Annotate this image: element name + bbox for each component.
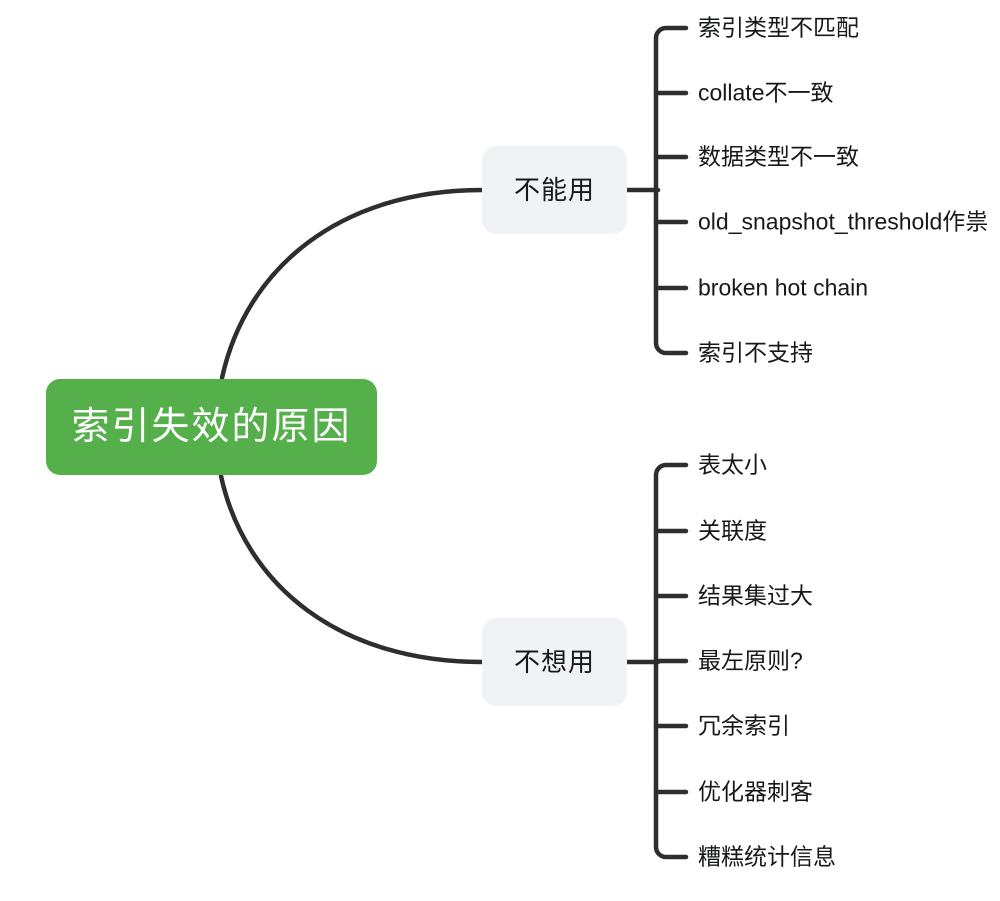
leaf-node-upper-5[interactable]: broken hot chain bbox=[698, 277, 868, 300]
leaf-node-lower-1[interactable]: 表太小 bbox=[698, 454, 767, 477]
branch-node-upper-label: 不能用 bbox=[514, 177, 595, 203]
leaf-node-upper-3[interactable]: 数据类型不一致 bbox=[698, 146, 859, 169]
bracket-upper bbox=[656, 28, 686, 353]
connector-root-to-lower-branch bbox=[221, 476, 482, 662]
leaf-node-upper-2[interactable]: collate不一致 bbox=[698, 82, 833, 105]
branch-node-upper[interactable]: 不能用 bbox=[482, 146, 627, 234]
branch-node-lower[interactable]: 不想用 bbox=[482, 618, 627, 706]
mindmap-canvas: 索引失效的原因 不能用 不想用 索引类型不匹配 collate不一致 数据类型不… bbox=[0, 0, 1000, 901]
leaf-node-lower-6[interactable]: 优化器刺客 bbox=[698, 781, 813, 804]
leaf-node-upper-1[interactable]: 索引类型不匹配 bbox=[698, 17, 859, 40]
leaf-node-upper-6[interactable]: 索引不支持 bbox=[698, 342, 813, 365]
branch-node-lower-label: 不想用 bbox=[514, 649, 595, 675]
leaf-node-lower-3[interactable]: 结果集过大 bbox=[698, 585, 813, 608]
connector-root-to-upper-branch bbox=[222, 190, 482, 378]
root-node[interactable]: 索引失效的原因 bbox=[46, 379, 377, 475]
leaf-node-lower-5[interactable]: 冗余索引 bbox=[698, 715, 790, 738]
leaf-node-lower-2[interactable]: 关联度 bbox=[698, 520, 767, 543]
leaf-node-upper-4[interactable]: old_snapshot_threshold作祟 bbox=[698, 211, 988, 234]
leaf-node-lower-7[interactable]: 糟糕统计信息 bbox=[698, 846, 836, 869]
leaf-node-lower-4[interactable]: 最左原则? bbox=[698, 650, 803, 673]
root-node-label: 索引失效的原因 bbox=[71, 408, 351, 446]
